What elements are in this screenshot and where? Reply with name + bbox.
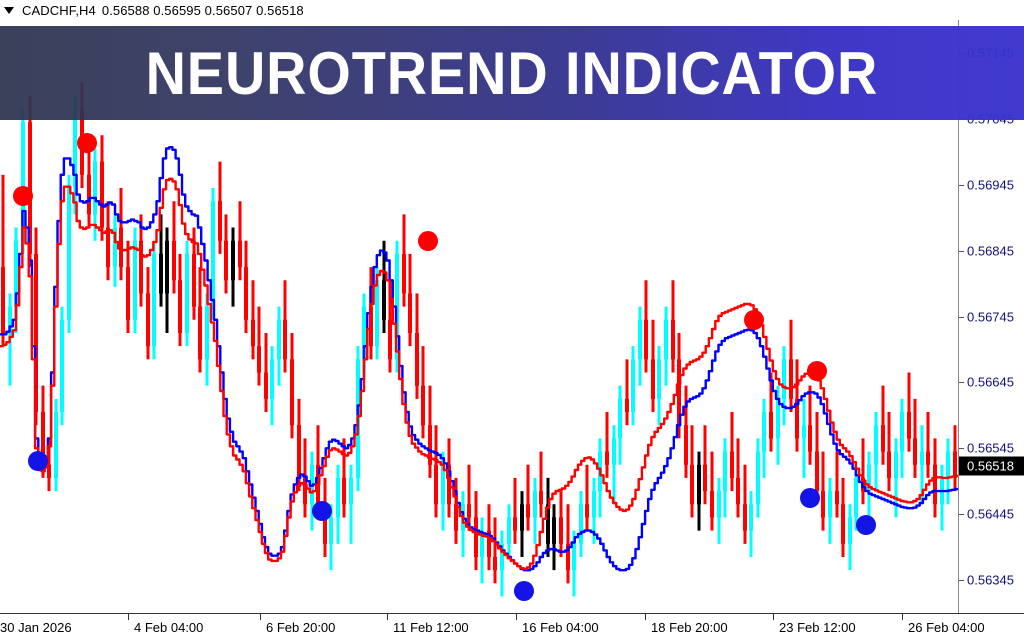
candle-body <box>474 517 478 557</box>
candle-body <box>205 307 209 360</box>
price-label: 0.56545 <box>967 441 1014 456</box>
candle-body <box>815 452 819 492</box>
candle-body <box>493 557 497 570</box>
banner-title: NEUROTREND INDICATOR <box>146 39 879 108</box>
candle-body <box>625 399 629 412</box>
candle-body <box>238 241 242 267</box>
price-tick <box>959 185 964 186</box>
current-price-badge: 0.56518 <box>959 457 1024 476</box>
candle-body <box>657 359 661 399</box>
candle-body <box>507 517 511 543</box>
candle-body <box>697 465 701 505</box>
candle-body <box>887 452 891 478</box>
time-tick <box>516 614 517 620</box>
candle-body <box>671 320 675 360</box>
candle-body <box>881 425 885 451</box>
candle-body <box>900 412 904 452</box>
time-tick <box>260 614 261 620</box>
candle-body <box>126 267 130 320</box>
candle-body <box>782 359 786 399</box>
candle-body <box>559 517 563 543</box>
candle-body <box>828 491 832 517</box>
candle-body <box>644 320 648 360</box>
candle-body <box>264 373 268 399</box>
candle-body <box>841 504 845 544</box>
candle-body <box>277 320 281 360</box>
candle-body <box>336 478 340 518</box>
price-tick <box>959 382 964 383</box>
candle-body <box>172 241 176 281</box>
candle-body <box>631 359 635 412</box>
chart-info-bar: CADCHF,H4 0.56588 0.56595 0.56507 0.5651… <box>0 0 1024 20</box>
candle-body <box>513 517 517 530</box>
candle-body <box>703 465 707 491</box>
candle-body <box>192 254 196 307</box>
candle-body <box>762 412 766 452</box>
candle-body <box>87 175 91 215</box>
time-axis[interactable]: 30 Jan 20264 Feb 04:006 Feb 20:0011 Feb … <box>0 613 1024 640</box>
buy-signal-dot <box>856 515 876 535</box>
triangle-down-icon[interactable] <box>4 7 14 14</box>
candle-body <box>651 359 655 399</box>
candle-body <box>736 478 740 504</box>
candle-body <box>349 478 353 504</box>
candle-body <box>926 452 930 465</box>
candle-body <box>1 267 5 333</box>
time-label: 16 Feb 04:00 <box>522 620 599 635</box>
candle-body <box>756 452 760 505</box>
candle-body <box>60 320 64 412</box>
time-label: 30 Jan 2026 <box>0 620 72 635</box>
candle-body <box>106 228 110 268</box>
time-label: 23 Feb 12:00 <box>779 620 856 635</box>
candle-body <box>743 504 747 530</box>
candle-body <box>159 254 163 294</box>
ohlc-values: 0.56588 0.56595 0.56507 0.56518 <box>102 3 304 18</box>
candle-body <box>710 491 714 517</box>
time-label: 26 Feb 04:00 <box>908 620 985 635</box>
candle-body <box>152 254 156 346</box>
sell-signal-dot <box>77 133 97 153</box>
candle-body <box>769 412 773 438</box>
candle-body <box>592 491 596 517</box>
candle-body <box>408 293 412 333</box>
candle-body <box>382 280 386 320</box>
candle-body <box>920 452 924 465</box>
candle-body <box>290 359 294 425</box>
candle-body <box>723 452 727 492</box>
symbol-label: CADCHF,H4 <box>22 3 96 18</box>
candle-body <box>283 320 287 360</box>
candle-body <box>684 425 688 465</box>
candle-body <box>257 346 261 372</box>
candle-body <box>539 491 543 504</box>
time-tick <box>645 614 646 620</box>
candle-body <box>133 241 137 320</box>
candle-body <box>572 544 576 570</box>
time-tick <box>128 614 129 620</box>
candle-body <box>218 201 222 241</box>
candle-body <box>224 241 228 281</box>
candle-body <box>93 162 97 215</box>
candle-body <box>100 162 104 228</box>
candle-body <box>251 320 255 346</box>
time-tick <box>902 614 903 620</box>
candle-body <box>421 386 425 426</box>
candle-body <box>270 359 274 399</box>
price-label: 0.56345 <box>967 573 1014 588</box>
price-label: 0.56445 <box>967 507 1014 522</box>
candle-body <box>933 465 937 505</box>
candle-body <box>638 320 642 360</box>
candle-body <box>434 465 438 505</box>
candle-body <box>585 504 589 517</box>
sell-signal-dot <box>807 361 827 381</box>
candle-body <box>119 228 123 268</box>
signal-dots-group <box>13 133 876 601</box>
candle-body <box>749 504 753 530</box>
buy-signal-dot <box>514 581 534 601</box>
candle-body <box>894 452 898 478</box>
candles-group <box>1 83 957 597</box>
candle-body <box>467 504 471 517</box>
candle-body <box>454 504 458 530</box>
candle-body <box>178 280 182 333</box>
candle-body <box>690 465 694 505</box>
candle-body <box>198 307 202 360</box>
candle-body <box>533 491 537 517</box>
candle-body <box>415 333 419 386</box>
candle-body <box>329 517 333 543</box>
sell-signal-dot <box>744 310 764 330</box>
price-tick <box>959 514 964 515</box>
candle-body <box>802 425 806 438</box>
candle-body <box>54 412 58 478</box>
candle-body <box>907 412 911 438</box>
price-tick <box>959 580 964 581</box>
sell-signal-dot <box>418 231 438 251</box>
candle-body <box>342 478 346 504</box>
candle-body <box>953 452 957 478</box>
candle-body <box>664 320 668 360</box>
candle-body <box>146 293 150 346</box>
candle-body <box>612 438 616 464</box>
price-tick <box>959 317 964 318</box>
candle-body <box>579 504 583 544</box>
candle-body <box>848 517 852 543</box>
candle-body <box>139 241 143 294</box>
candle-body <box>67 188 71 320</box>
candle-body <box>185 254 189 333</box>
candle-body <box>835 491 839 504</box>
candle-body <box>808 425 812 451</box>
candle-body <box>854 478 858 518</box>
buy-signal-dot <box>28 451 48 471</box>
candle-body <box>526 504 530 517</box>
candle-body <box>618 399 622 439</box>
price-label: 0.56745 <box>967 309 1014 324</box>
candle-body <box>520 504 524 530</box>
candle-body <box>297 425 301 478</box>
candle-body <box>552 517 556 543</box>
candle-body <box>789 359 793 399</box>
time-label: 18 Feb 20:00 <box>651 620 728 635</box>
chart-window: CADCHF,H4 0.56588 0.56595 0.56507 0.5651… <box>0 0 1024 640</box>
candle-body <box>375 280 379 346</box>
candle-body <box>821 491 825 517</box>
time-label: 4 Feb 04:00 <box>134 620 203 635</box>
candle-body <box>388 320 392 360</box>
price-tick <box>959 448 964 449</box>
candle-body <box>231 241 235 281</box>
price-label: 0.56945 <box>967 177 1014 192</box>
time-tick <box>773 614 774 620</box>
time-tick <box>387 614 388 620</box>
price-label: 0.56645 <box>967 375 1014 390</box>
candle-body <box>946 452 950 478</box>
sell-signal-dot <box>13 186 33 206</box>
buy-signal-dot <box>800 488 820 508</box>
candle-body <box>402 254 406 294</box>
indicator-banner: NEUROTREND INDICATOR <box>0 26 1024 120</box>
time-label: 6 Feb 20:00 <box>266 620 335 635</box>
candle-body <box>165 241 169 294</box>
candle-body <box>730 452 734 478</box>
candle-body <box>874 425 878 465</box>
time-label: 11 Feb 12:00 <box>393 620 469 635</box>
candle-body <box>605 452 609 465</box>
candle-body <box>244 267 248 320</box>
buy-signal-dot <box>312 501 332 521</box>
candle-body <box>717 491 721 517</box>
candle-body <box>913 438 917 464</box>
price-tick <box>959 251 964 252</box>
price-label: 0.56845 <box>967 243 1014 258</box>
